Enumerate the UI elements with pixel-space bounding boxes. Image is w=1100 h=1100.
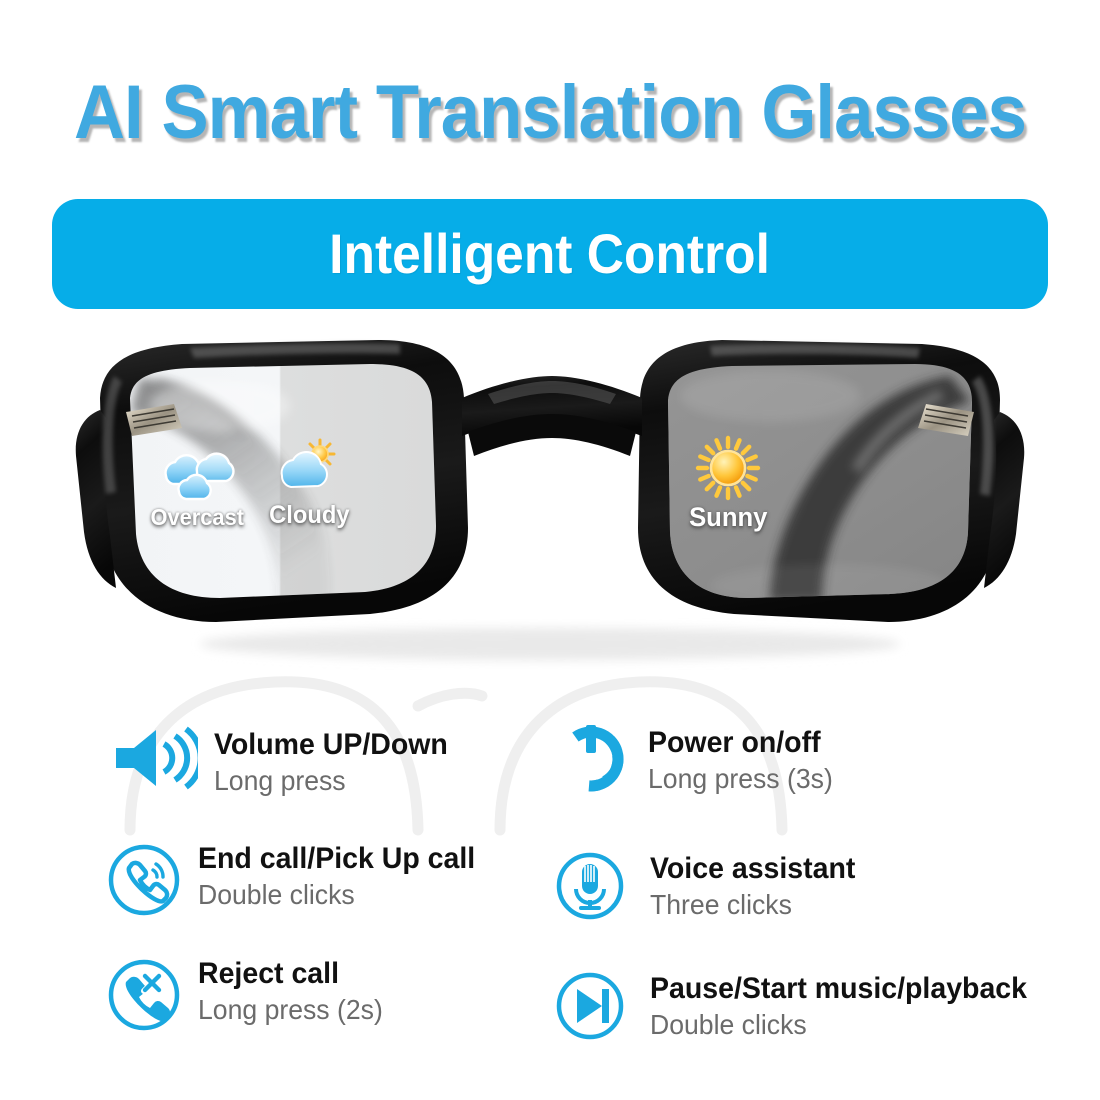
feature-title: Power on/off xyxy=(648,726,833,760)
speaker-volume-icon xyxy=(112,726,198,790)
feature-title: Voice assistant xyxy=(650,852,855,886)
banner-title: Intelligent Control xyxy=(330,225,771,283)
microphone-circle-icon xyxy=(552,848,628,924)
intelligent-control-banner: Intelligent Control xyxy=(52,199,1048,309)
glasses-illustration xyxy=(70,336,1030,676)
feature-title: End call/Pick Up call xyxy=(198,842,475,876)
feature-music-playback[interactable]: Pause/Start music/playback Double clicks xyxy=(552,968,1047,1044)
feature-voice-assistant[interactable]: Voice assistant Three clicks xyxy=(552,848,866,924)
phone-reject-circle-icon xyxy=(104,955,184,1035)
feature-title: Pause/Start music/playback xyxy=(650,972,1027,1006)
feature-title: Reject call xyxy=(198,957,383,991)
feature-power[interactable]: Power on/off Long press (3s) xyxy=(552,718,843,796)
play-skip-circle-icon xyxy=(552,968,628,1044)
feature-subtitle: Double clicks xyxy=(198,878,475,912)
feature-reject-call[interactable]: Reject call Long press (2s) xyxy=(104,955,393,1035)
feature-subtitle: Double clicks xyxy=(650,1008,1027,1042)
feature-subtitle: Long press (2s) xyxy=(198,993,383,1027)
feature-subtitle: Long press xyxy=(214,764,448,798)
feature-subtitle: Three clicks xyxy=(650,888,855,922)
feature-list: Volume UP/Down Long press End call/Pick … xyxy=(0,700,1100,1090)
feature-subtitle: Long press (3s) xyxy=(648,762,833,796)
power-button-icon xyxy=(552,718,630,796)
feature-end-call[interactable]: End call/Pick Up call Double clicks xyxy=(104,840,490,920)
smart-glasses-photo: Overcast xyxy=(70,336,1030,676)
page-title: AI Smart Translation Glasses xyxy=(39,72,1062,154)
feature-title: Volume UP/Down xyxy=(214,728,448,762)
feature-volume[interactable]: Volume UP/Down Long press xyxy=(112,726,460,798)
phone-call-circle-icon xyxy=(104,840,184,920)
